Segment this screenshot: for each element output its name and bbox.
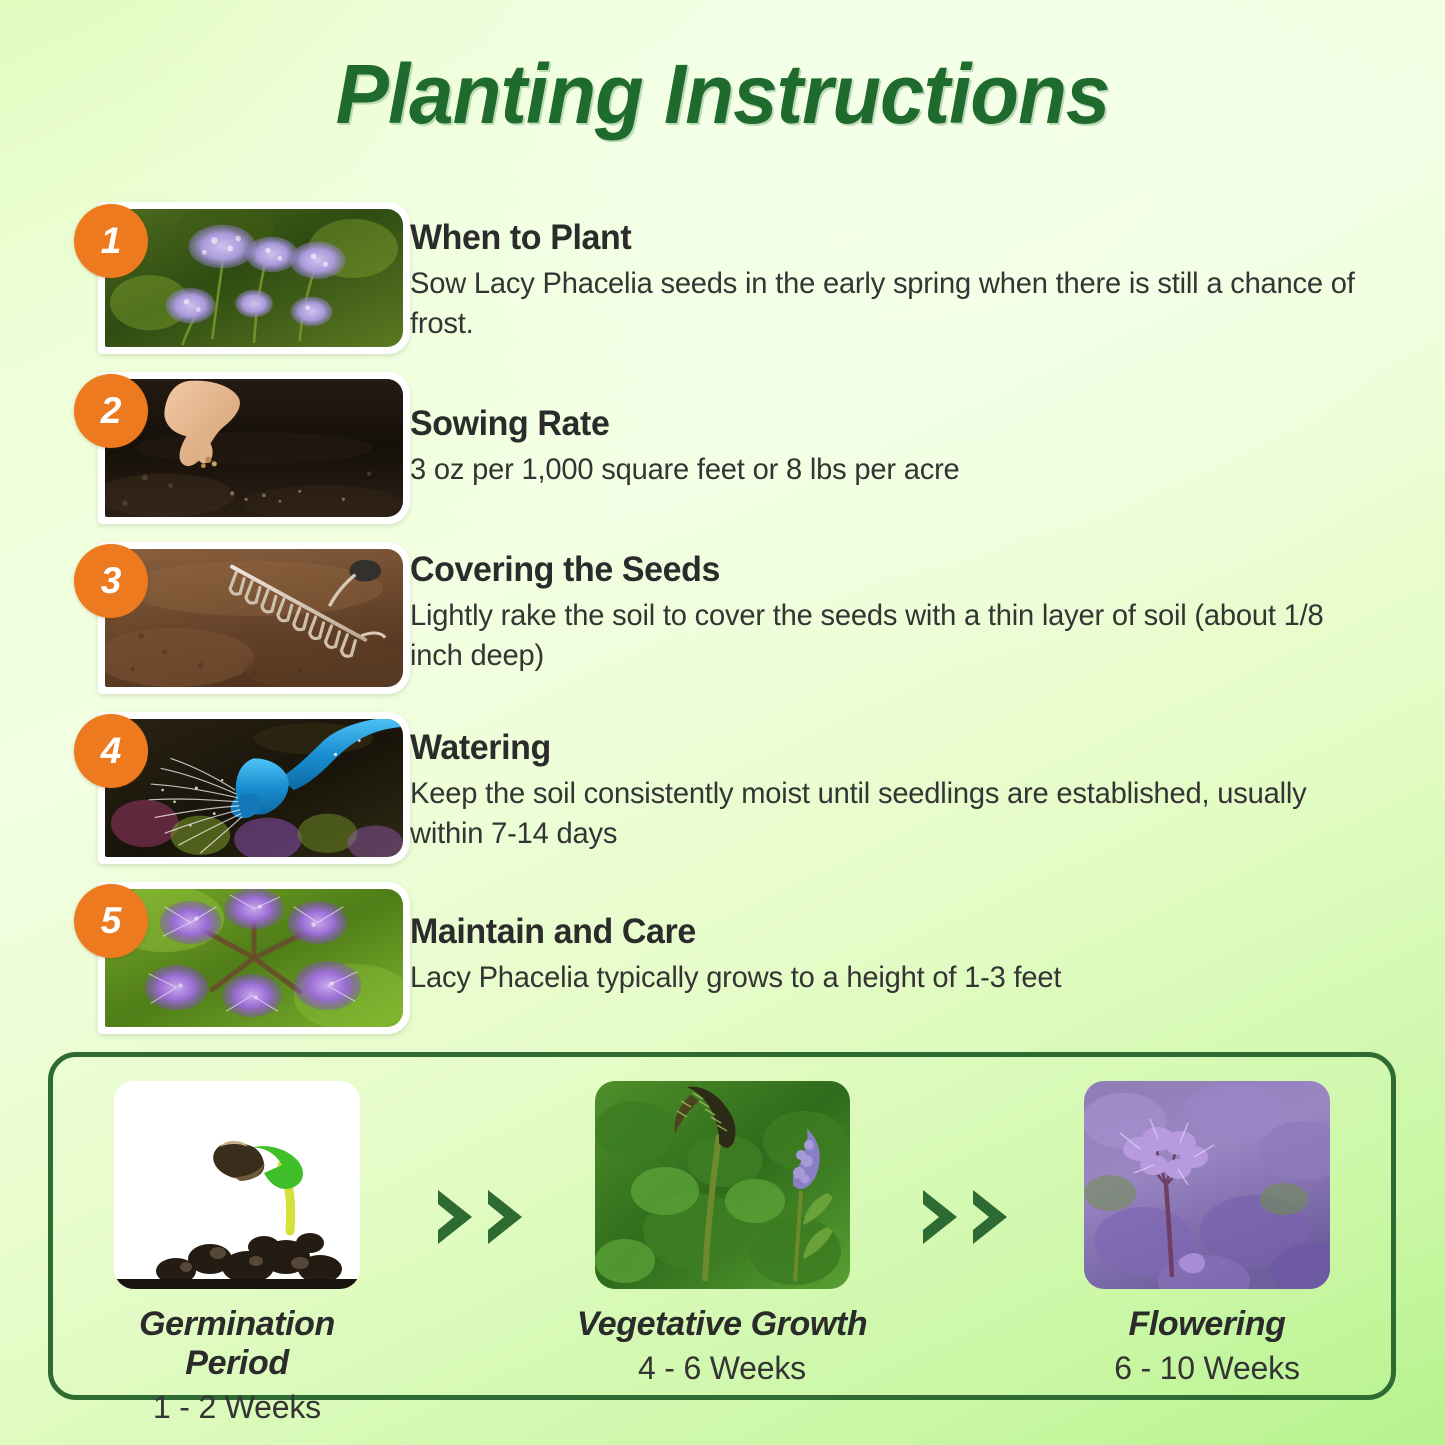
step-text: Maintain and Care Lacy Phacelia typicall…	[410, 876, 1445, 998]
step-thumbnail-frame	[98, 542, 410, 694]
step-item: 3 Covering the Seeds Lightly rake the so…	[0, 536, 1445, 706]
step-item: 2 Sowing Rate 3 oz per 1,000 square feet…	[0, 366, 1445, 536]
watering-can-photo	[105, 719, 403, 857]
step-thumbnail-frame	[98, 712, 410, 864]
step-number-badge: 2	[74, 374, 148, 448]
double-chevron-right-icon	[917, 1186, 1013, 1248]
step-text: Sowing Rate 3 oz per 1,000 square feet o…	[410, 366, 1445, 490]
step-thumbnail-wrapper: 5	[0, 876, 410, 1046]
step-item: 5 Maintain and Care Lacy Phacelia typica…	[0, 876, 1445, 1046]
phase-label: Vegetative Growth	[572, 1305, 872, 1344]
step-item: 1 When to Plant Sow Lacy Phacelia seeds …	[0, 196, 1445, 366]
step-body: Keep the soil consistently moist until s…	[410, 774, 1375, 853]
step-thumbnail-frame	[98, 372, 410, 524]
step-number-badge: 4	[74, 714, 148, 788]
step-body: 3 oz per 1,000 square feet or 8 lbs per …	[410, 450, 1375, 490]
phase-label: Germination Period	[87, 1305, 387, 1383]
step-number-badge: 5	[74, 884, 148, 958]
step-thumbnail-frame	[98, 882, 410, 1034]
phacelia-flowers-photo	[105, 209, 403, 347]
timeline-phase: Germination Period 1 - 2 Weeks	[87, 1081, 387, 1426]
purple-flower-field-photo	[1084, 1081, 1330, 1289]
double-chevron-right-icon	[432, 1186, 528, 1248]
steps-list: 1 When to Plant Sow Lacy Phacelia seeds …	[0, 196, 1445, 1046]
step-body: Lacy Phacelia typically grows to a heigh…	[410, 958, 1375, 998]
step-body: Lightly rake the soil to cover the seeds…	[410, 596, 1375, 675]
step-title: Covering the Seeds	[410, 550, 1375, 590]
step-text: Watering Keep the soil consistently mois…	[410, 706, 1445, 853]
timeline-phase: Vegetative Growth 4 - 6 Weeks	[572, 1081, 872, 1387]
timeline-phase: Flowering 6 - 10 Weeks	[1057, 1081, 1357, 1387]
step-number-badge: 3	[74, 544, 148, 618]
step-title: When to Plant	[410, 218, 1375, 258]
step-title: Watering	[410, 728, 1375, 768]
step-body: Sow Lacy Phacelia seeds in the early spr…	[410, 264, 1375, 343]
step-title: Maintain and Care	[410, 912, 1375, 952]
step-number-badge: 1	[74, 204, 148, 278]
growth-timeline-panel: Germination Period 1 - 2 Weeks	[48, 1052, 1396, 1400]
phase-label: Flowering	[1057, 1305, 1357, 1344]
step-thumbnail-wrapper: 2	[0, 366, 410, 536]
phase-duration: 1 - 2 Weeks	[87, 1389, 387, 1426]
phase-duration: 6 - 10 Weeks	[1057, 1350, 1357, 1387]
green-foliage-photo	[595, 1081, 850, 1289]
step-thumbnail-frame	[98, 202, 410, 354]
step-title: Sowing Rate	[410, 404, 1375, 444]
hand-sowing-seeds-photo	[105, 379, 403, 517]
step-thumbnail-wrapper: 3	[0, 536, 410, 706]
step-item: 4 Watering Keep the soil consistently mo…	[0, 706, 1445, 876]
step-thumbnail-wrapper: 1	[0, 196, 410, 366]
phase-duration: 4 - 6 Weeks	[572, 1350, 872, 1387]
page-title: Planting Instructions	[36, 52, 1409, 136]
step-text: When to Plant Sow Lacy Phacelia seeds in…	[410, 196, 1445, 343]
sprouting-seed-photo	[114, 1081, 360, 1289]
infographic-page: Planting Instructions	[0, 0, 1445, 1445]
step-thumbnail-wrapper: 4	[0, 706, 410, 876]
step-text: Covering the Seeds Lightly rake the soil…	[410, 536, 1445, 675]
rake-on-soil-photo	[105, 549, 403, 687]
phacelia-closeup-photo	[105, 889, 403, 1027]
